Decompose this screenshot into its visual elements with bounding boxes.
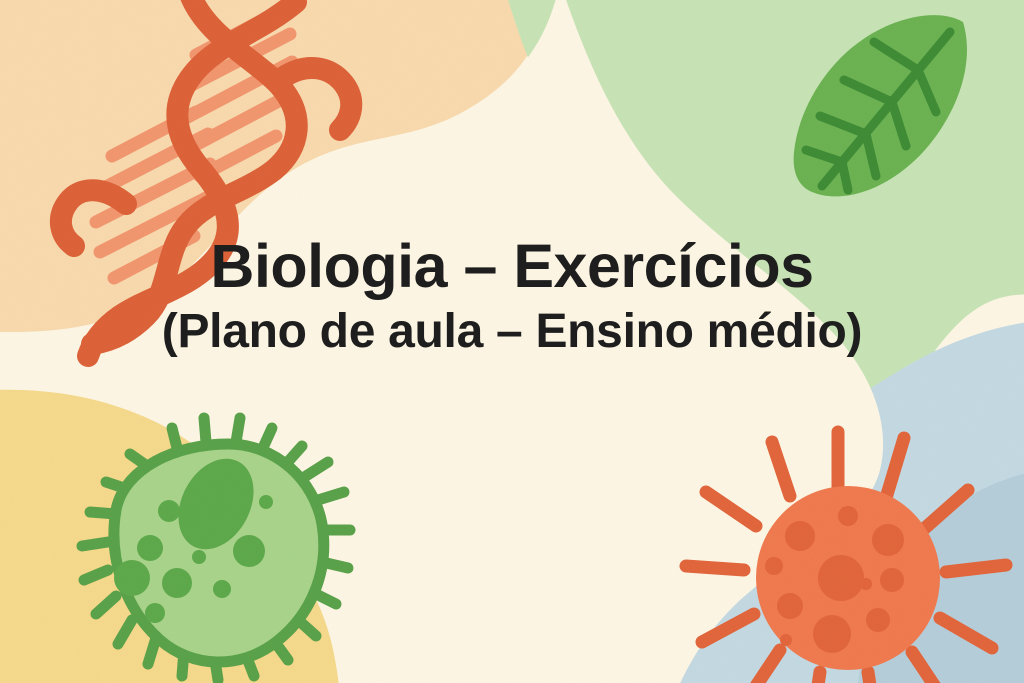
leaf-icon bbox=[794, 15, 967, 196]
title-block: Biologia – Exercícios (Plano de aula – E… bbox=[0, 234, 1024, 359]
page-title: Biologia – Exercícios bbox=[0, 234, 1024, 300]
virus-icon bbox=[686, 432, 1006, 683]
page-subtitle: (Plano de aula – Ensino médio) bbox=[0, 306, 1024, 359]
cell-icon bbox=[82, 418, 350, 680]
slide-canvas: Biologia – Exercícios (Plano de aula – E… bbox=[0, 0, 1024, 683]
